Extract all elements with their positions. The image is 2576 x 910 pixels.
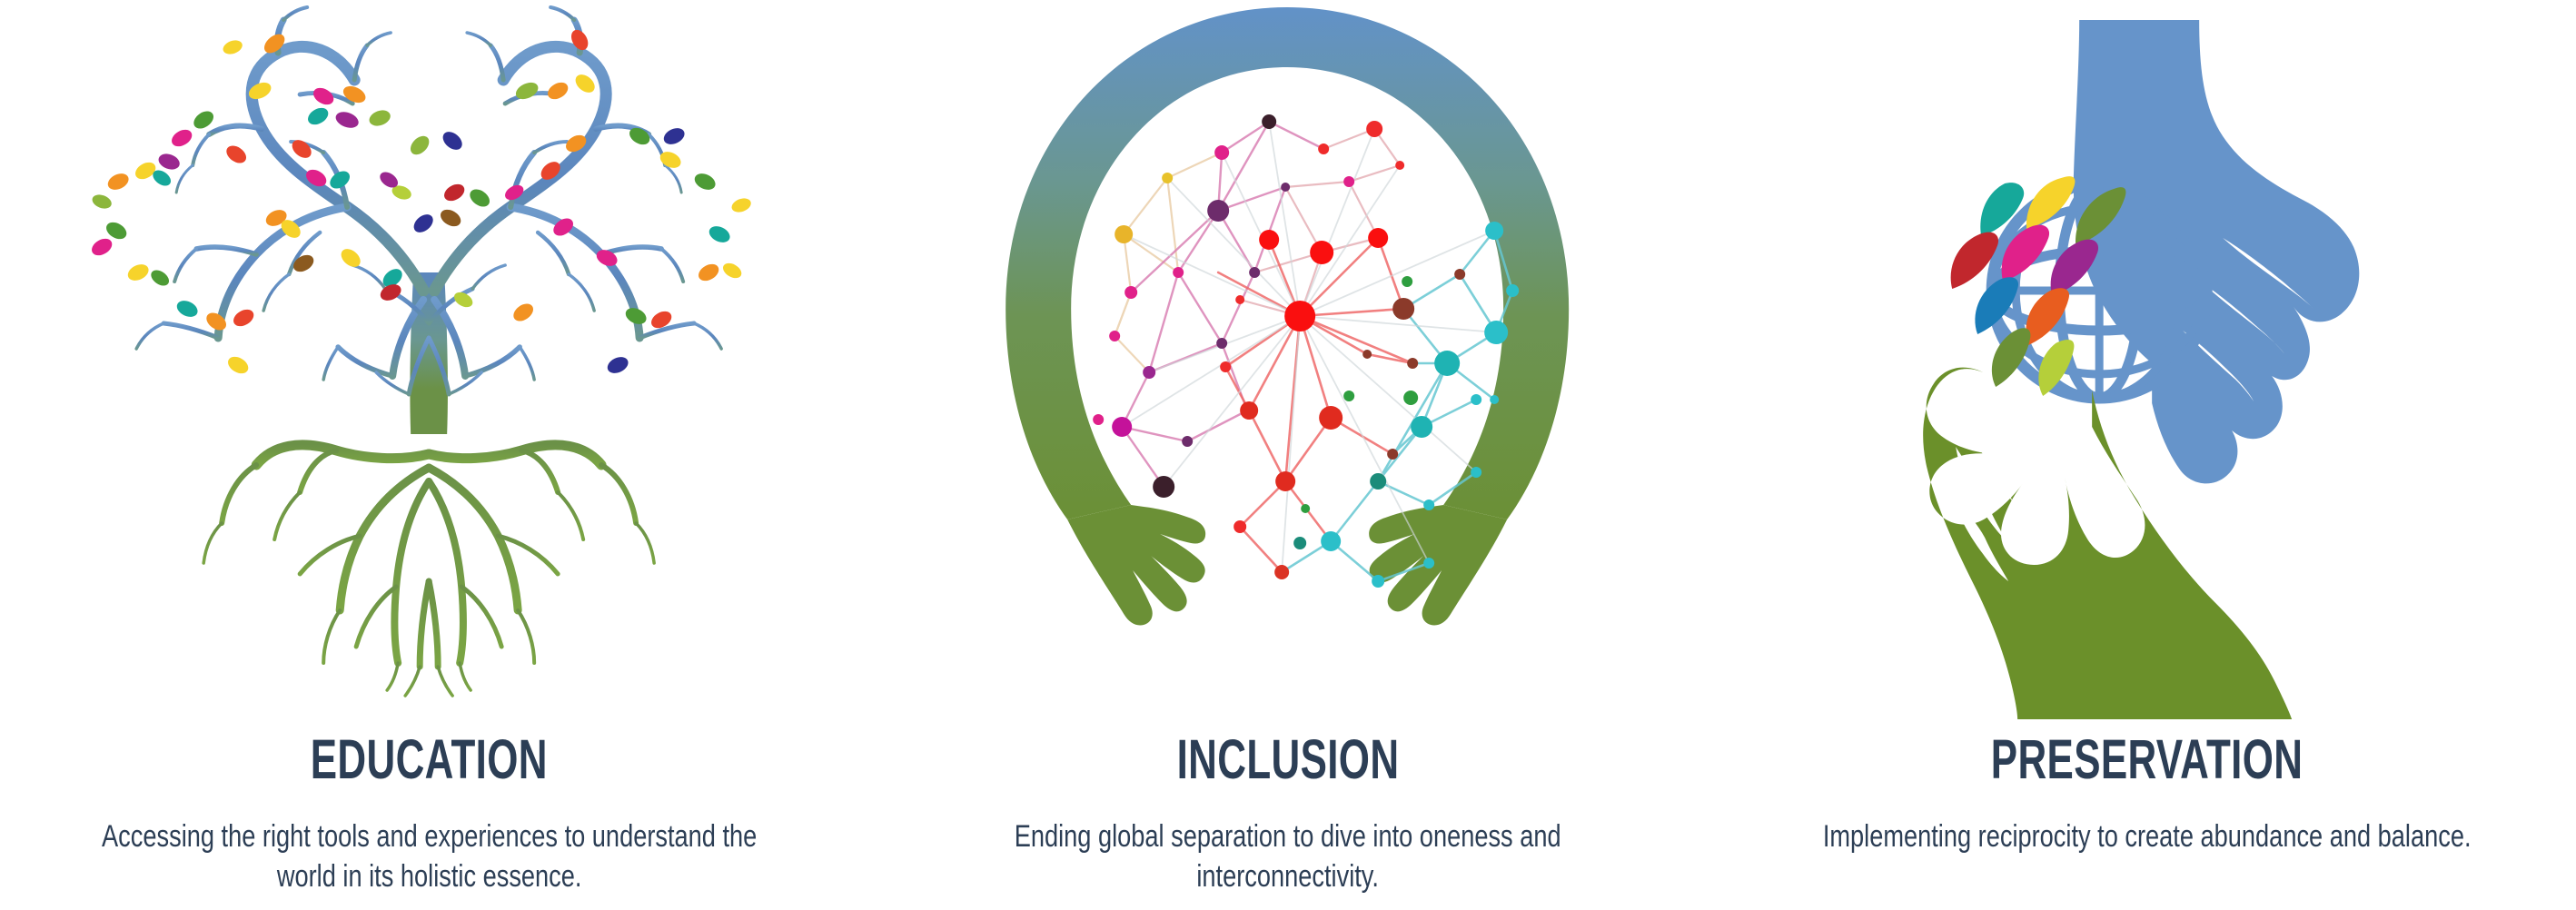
protected-globe-illustration: [1718, 0, 2576, 727]
network-sphere-svg: [858, 0, 1717, 727]
heart-tree-illustration: [0, 0, 858, 727]
protected-globe-svg: [1718, 0, 2576, 727]
heart-tree-svg: [0, 0, 858, 727]
value-column-education: EDUCATION Accessing the right tools and …: [0, 0, 858, 910]
tree-roots: [203, 427, 654, 696]
column-description-education: Accessing the right tools and experience…: [86, 816, 773, 896]
values-three-column-board: EDUCATION Accessing the right tools and …: [0, 0, 2576, 910]
column-description-preservation: Implementing reciprocity to create abund…: [1803, 816, 2490, 856]
value-column-preservation: PRESERVATION Implementing reciprocity to…: [1718, 0, 2576, 910]
tree-trunk: [410, 272, 448, 434]
column-title-inclusion: INCLUSION: [1177, 732, 1400, 787]
column-description-inclusion: Ending global separation to dive into on…: [945, 816, 1631, 896]
column-title-preservation: PRESERVATION: [1991, 732, 2304, 787]
network-sphere-illustration: [858, 0, 1717, 727]
value-column-inclusion: INCLUSION Ending global separation to di…: [858, 0, 1717, 910]
tree-branches: [136, 7, 721, 394]
column-title-education: EDUCATION: [311, 732, 548, 787]
